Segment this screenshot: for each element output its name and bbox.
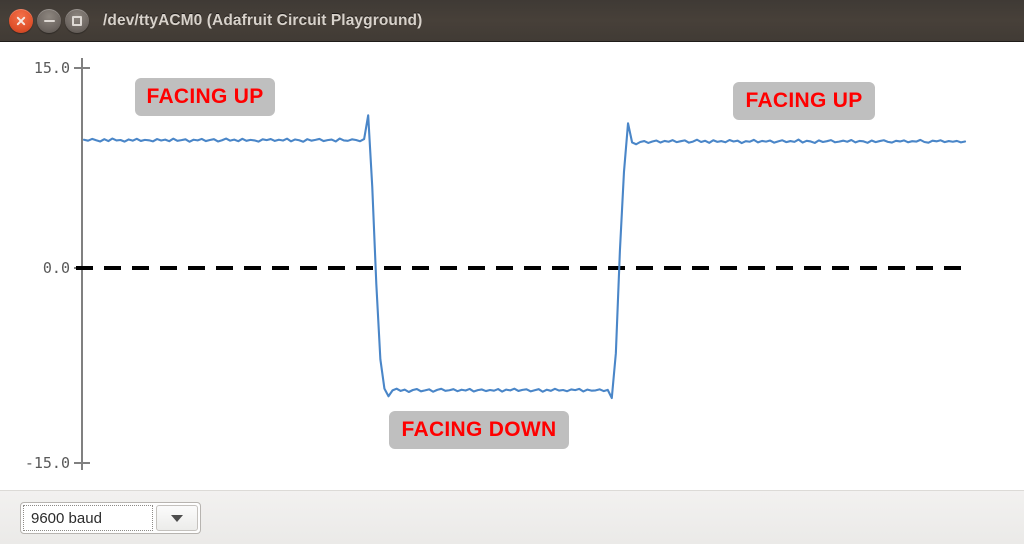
annotation-facing-up-left: FACING UP bbox=[135, 78, 275, 116]
y-tick-label-zero: 0.0 bbox=[6, 259, 70, 277]
window-titlebar[interactable]: /dev/ttyACM0 (Adafruit Circuit Playgroun… bbox=[0, 0, 1024, 42]
close-button[interactable] bbox=[9, 9, 33, 33]
baud-rate-combobox[interactable]: 9600 baud bbox=[20, 502, 201, 534]
maximize-button[interactable] bbox=[65, 9, 89, 33]
y-tick-label-max: 15.0 bbox=[6, 59, 70, 77]
window-title: /dev/ttyACM0 (Adafruit Circuit Playgroun… bbox=[103, 12, 422, 30]
plot-canvas: 15.0 0.0 -15.0 FACING UP FACING UP FACIN… bbox=[0, 42, 1024, 490]
minimize-icon bbox=[44, 20, 55, 22]
annotation-facing-down: FACING DOWN bbox=[389, 411, 569, 449]
baud-rate-dropdown-button[interactable] bbox=[156, 505, 198, 531]
baud-rate-value[interactable]: 9600 baud bbox=[23, 505, 153, 531]
minimize-button[interactable] bbox=[37, 9, 61, 33]
maximize-icon bbox=[72, 16, 82, 26]
chevron-down-icon bbox=[171, 515, 183, 522]
serial-plotter-window: /dev/ttyACM0 (Adafruit Circuit Playgroun… bbox=[0, 0, 1024, 544]
window-controls bbox=[9, 9, 89, 33]
y-tick-label-min: -15.0 bbox=[6, 454, 70, 472]
bottom-toolbar: 9600 baud bbox=[0, 490, 1024, 544]
annotation-facing-up-right: FACING UP bbox=[733, 82, 875, 120]
